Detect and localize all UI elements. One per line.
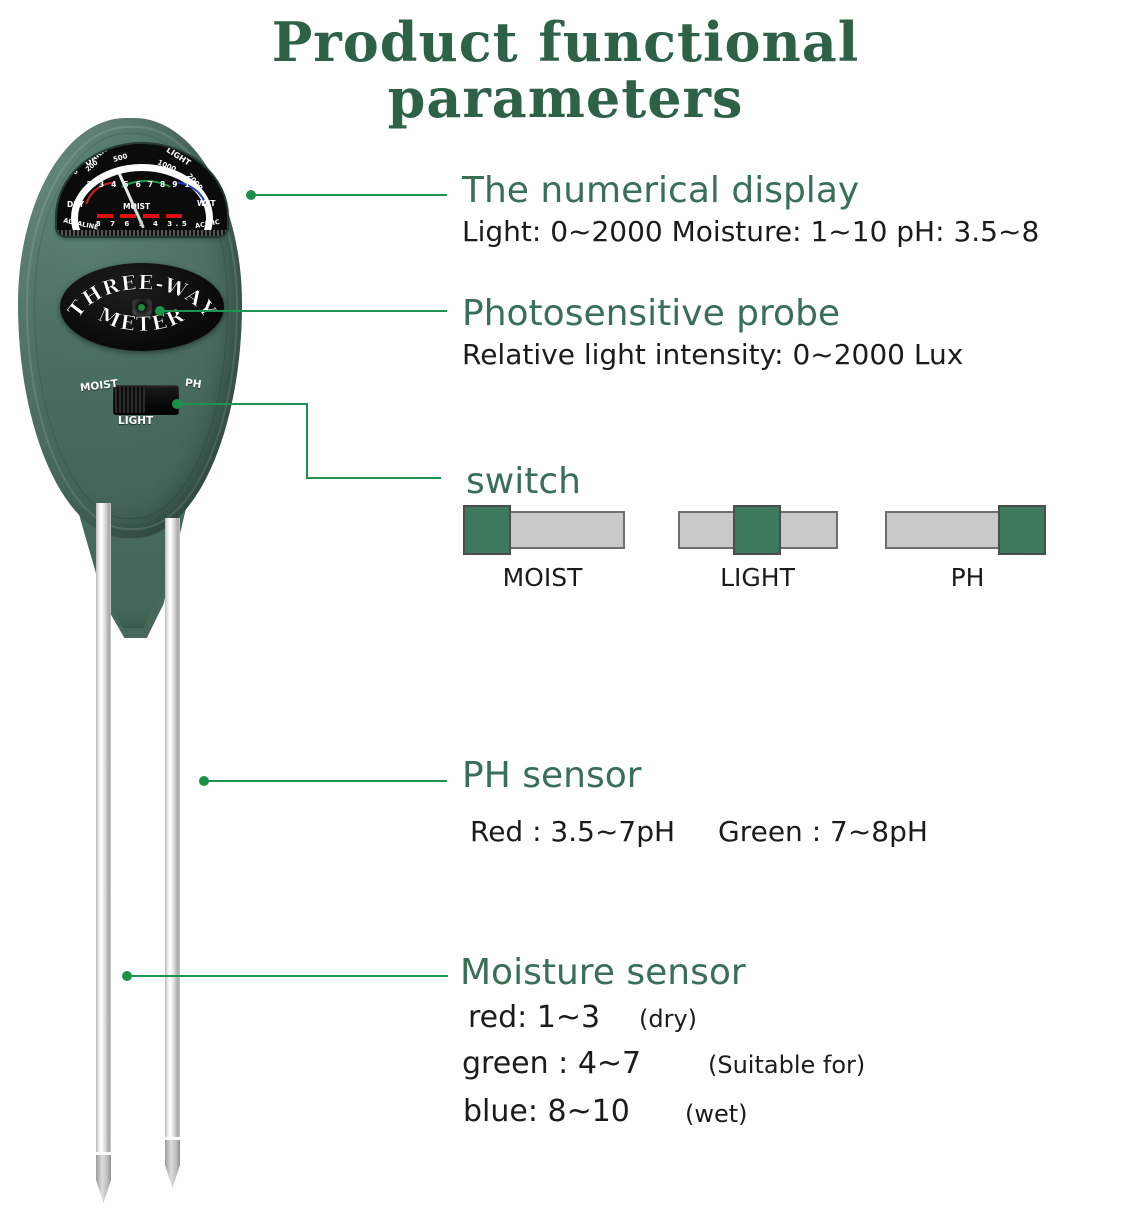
switch-diagram-label-moist: MOIST bbox=[455, 563, 630, 592]
page-title-line1: Product functional bbox=[272, 10, 860, 74]
probe-left-tip bbox=[96, 1155, 111, 1203]
switch-position-diagrams: MOIST LIGHT PH bbox=[455, 505, 1055, 640]
leader-line-switch-h1 bbox=[178, 403, 308, 405]
leader-line-moisture-sensor bbox=[128, 975, 448, 977]
brand-logo-oval: THREE-WAY METER bbox=[60, 263, 224, 351]
callout-subtext-photosensitive-probe: Relative light intensity: 0~2000 Lux bbox=[462, 338, 963, 371]
switch-knob-right bbox=[998, 505, 1046, 555]
switch-diagram-ph-graphic bbox=[880, 505, 1055, 553]
leader-dot-ph-sensor bbox=[199, 776, 209, 786]
leader-line-switch-v bbox=[306, 403, 308, 478]
callout-heading-photosensitive-probe: Photosensitive probe bbox=[462, 293, 840, 334]
soil-meter-device: DARK LIGHT 0 200 500 1000 2000 2 3 4 5 6… bbox=[0, 118, 300, 1208]
meter-label-dry: DRY bbox=[67, 200, 84, 209]
device-switch-label-light: LIGHT bbox=[118, 415, 153, 427]
leader-dot-photosensitive-probe bbox=[155, 306, 165, 316]
callout-moisture-green-note: (Suitable for) bbox=[708, 1051, 865, 1079]
callout-heading-numerical-display: The numerical display bbox=[462, 170, 859, 211]
leader-dot-moisture-sensor bbox=[122, 971, 132, 981]
page-title: Product functional parameters bbox=[0, 14, 1131, 126]
callout-moisture-green: green : 4~7 bbox=[462, 1046, 641, 1081]
callout-moisture-red-note: (dry) bbox=[639, 1005, 697, 1033]
switch-diagram-label-ph: PH bbox=[880, 563, 1055, 592]
callout-moisture-blue: blue: 8~10 bbox=[463, 1094, 630, 1129]
switch-knurled-grip bbox=[115, 387, 145, 413]
meter-moisture-scale: 2 3 4 5 6 7 8 9 10 bbox=[85, 180, 201, 189]
callout-subtext-numerical-display: Light: 0~2000 Moisture: 1~10 pH: 3.5~8 bbox=[462, 215, 1039, 248]
meter-label-wet: WET bbox=[197, 199, 216, 208]
probe-right bbox=[165, 518, 180, 1158]
switch-diagram-moist[interactable]: MOIST bbox=[455, 505, 630, 553]
callout-heading-switch: switch bbox=[466, 461, 581, 502]
switch-diagram-light-graphic bbox=[670, 505, 845, 553]
probe-left bbox=[96, 503, 111, 1158]
switch-diagram-light[interactable]: LIGHT bbox=[670, 505, 845, 553]
callout-heading-ph-sensor: PH sensor bbox=[462, 755, 642, 796]
meter-tick-500: 500 bbox=[112, 152, 128, 164]
leader-line-ph-sensor bbox=[205, 780, 447, 782]
callout-moisture-red: red: 1~3 bbox=[468, 1000, 600, 1035]
callout-ph-red-range: Red : 3.5~7pH bbox=[470, 815, 675, 848]
meter-bezel-teeth bbox=[57, 230, 227, 236]
device-mode-switch[interactable] bbox=[113, 385, 179, 415]
leader-line-switch-h2 bbox=[306, 477, 441, 479]
meter-tick-0: 0 bbox=[71, 168, 80, 176]
switch-diagram-ph[interactable]: PH bbox=[880, 505, 1055, 553]
leader-dot-numerical-display bbox=[246, 190, 256, 200]
callout-heading-moisture-sensor: Moisture sensor bbox=[460, 952, 746, 993]
switch-diagram-moist-graphic bbox=[455, 505, 630, 553]
switch-knob-left bbox=[463, 505, 511, 555]
device-switch-label-ph: PH bbox=[184, 377, 202, 391]
leader-line-photosensitive-probe bbox=[160, 310, 447, 312]
photosensitive-sensor bbox=[132, 299, 152, 316]
callout-moisture-blue-note: (wet) bbox=[685, 1100, 748, 1128]
switch-diagram-label-light: LIGHT bbox=[670, 563, 845, 592]
switch-knob-center bbox=[733, 505, 781, 555]
leader-dot-switch bbox=[172, 399, 182, 409]
meter-red-bars bbox=[97, 214, 189, 218]
probe-right-tip bbox=[165, 1140, 180, 1188]
leader-line-numerical-display bbox=[252, 194, 447, 196]
switch-track bbox=[495, 511, 625, 549]
switch-track bbox=[885, 511, 1015, 549]
callout-ph-green-range: Green : 7~8pH bbox=[718, 815, 928, 848]
